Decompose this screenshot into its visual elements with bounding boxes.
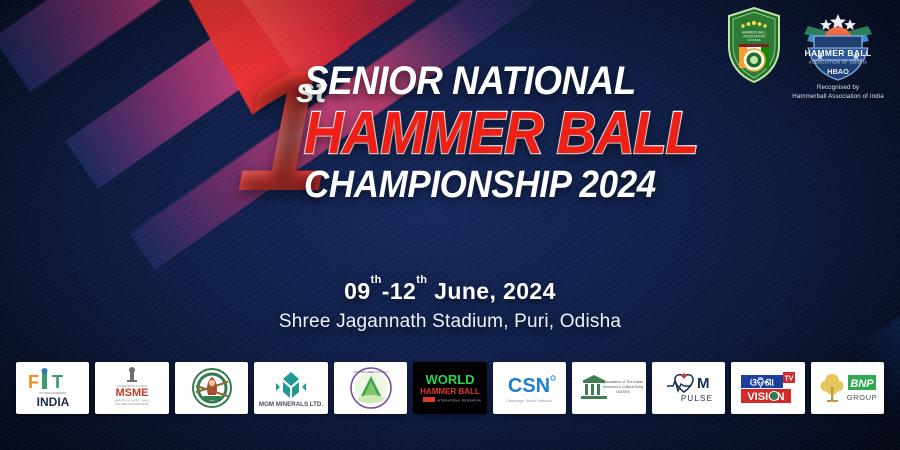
svg-text:OF INDIA: OF INDIA [747, 38, 760, 42]
title-lines: SENIOR NATIONAL HAMMER BALL CHAMPIONSHIP… [304, 62, 706, 204]
sponsor-logo-world-hammer-ball[interactable]: WORLD HAMMER BALL INTERNATIONAL FEDERATI… [413, 362, 486, 414]
date-separator: - [382, 278, 390, 304]
svg-text:PULSE: PULSE [681, 394, 713, 403]
svg-text:ASSOCIATION OF ODISHA: ASSOCIATION OF ODISHA [809, 60, 868, 65]
date-end: 12 [390, 278, 416, 304]
india-association-shield-icon: HAMMER BALL ASSOCIATION OF INDIA [726, 6, 782, 84]
sponsor-logo-mgm-minerals[interactable]: MGM MINERALS LTD. [254, 362, 327, 414]
svg-text:INTERNATIONAL FEDERATION: INTERNATIONAL FEDERATION [437, 399, 481, 403]
svg-text:HAMMER BALL: HAMMER BALL [805, 48, 872, 58]
recognised-by-caption: Recognised by Hammerball Association of … [792, 84, 884, 102]
svg-text:F: F [28, 372, 39, 392]
svg-text:M: M [697, 375, 710, 392]
sponsor-logo-green-circle[interactable]: NATURE GREEN SOCIETY [334, 362, 407, 414]
svg-text:GROUP: GROUP [847, 393, 878, 402]
sponsor-logo-institution[interactable]: Association of The Indian Technical & Cu… [572, 362, 645, 414]
title-line-championship-year: CHAMPIONSHIP 2024 [304, 166, 674, 204]
svg-text:Technical & Cultural Body: Technical & Cultural Body [602, 385, 642, 389]
svg-text:BNP: BNP [851, 378, 875, 390]
svg-text:ODISHA: ODISHA [616, 390, 630, 394]
bnp-group-icon: BNP GROUP [815, 367, 879, 409]
hammerball-association-of-india-emblem: HAMMER BALL ASSOCIATION OF INDIA [726, 6, 782, 84]
world-hammer-ball-icon: WORLD HAMMER BALL INTERNATIONAL FEDERATI… [417, 367, 483, 409]
svg-text:T: T [52, 372, 63, 392]
msme-icon: GOVERNMENT OF INDIA MSME MINISTRY OF MIC… [101, 366, 163, 410]
csn-icon: CSN Campaign Social Network [497, 367, 561, 409]
svg-text:AND MEDIUM ENTERPRISES: AND MEDIUM ENTERPRISES [115, 403, 150, 406]
date-start-suffix: th [371, 274, 382, 286]
svg-text:MSME: MSME [116, 387, 149, 399]
svg-text:INDIA: INDIA [36, 395, 69, 409]
date-end-suffix: th [416, 274, 427, 286]
odisha-emblem-icon [187, 366, 237, 410]
date-month-year: June, 2024 [427, 278, 555, 304]
sponsor-logo-odisha-vision[interactable]: ଓଡ଼ିଶା TV VISION [731, 362, 804, 414]
sponsor-logo-om-pulse[interactable]: M PULSE [652, 362, 725, 414]
fit-india-icon: F T FIT INDIA MOVEMENT INDIA [22, 366, 84, 410]
om-pulse-icon: M PULSE [657, 367, 719, 409]
sponsor-strip: F T FIT INDIA MOVEMENT INDIA GOVERNMENT … [16, 362, 884, 414]
title-line-hammer-ball: HAMMER BALL [304, 103, 674, 163]
sponsor-logo-bnp-group[interactable]: BNP GROUP [811, 362, 884, 414]
svg-text:Campaign Social Network: Campaign Social Network [506, 398, 552, 403]
svg-text:HBAO: HBAO [827, 67, 849, 76]
hammerball-association-of-odisha-badge: HAMMER BALL ASSOCIATION OF ODISHA HBAO R… [790, 6, 886, 102]
title-line-senior-national: SENIOR NATIONAL [304, 62, 674, 101]
hbao-shield-icon: HAMMER BALL ASSOCIATION OF ODISHA HBAO [790, 6, 886, 82]
recognised-by-line2: Hammerball Association of India [792, 93, 884, 102]
svg-text:WORLD: WORLD [425, 372, 474, 387]
mgm-minerals-icon: MGM MINERALS LTD. [259, 366, 323, 410]
sponsor-logo-fit-india[interactable]: F T FIT INDIA MOVEMENT INDIA [16, 362, 89, 414]
event-title-block: 1 st SENIOR NATIONAL HAMMER BALL CHAMPIO… [236, 62, 706, 204]
sponsor-logo-csn[interactable]: CSN Campaign Social Network [493, 362, 566, 414]
svg-text:CSN: CSN [508, 375, 550, 397]
institution-icon: Association of The Indian Technical & Cu… [575, 367, 643, 409]
recognised-by-line1: Recognised by [792, 84, 884, 93]
odisha-vision-tv-icon: ଓଡ଼ିଶା TV VISION [739, 367, 797, 409]
emblem-group: HAMMER BALL ASSOCIATION OF INDIA [726, 6, 886, 102]
green-circle-emblem-icon: NATURE GREEN SOCIETY [345, 366, 397, 410]
svg-text:VISION: VISION [747, 391, 784, 403]
svg-text:Association of The Indian: Association of The Indian [603, 380, 643, 384]
svg-text:NATURE GREEN SOCIETY: NATURE GREEN SOCIETY [353, 370, 388, 374]
svg-text:TV: TV [784, 376, 793, 383]
svg-text:ଓଡ଼ିଶା: ଓଡ଼ିଶା [750, 377, 775, 389]
event-banner: HAMMER BALL ASSOCIATION OF INDIA [0, 0, 900, 450]
event-meta-block: 09th-12th June, 2024 Shree Jagannath Sta… [0, 278, 900, 333]
date-start: 09 [344, 278, 370, 304]
svg-text:HAMMER BALL: HAMMER BALL [420, 387, 480, 396]
event-venue: Shree Jagannath Stadium, Puri, Odisha [0, 311, 900, 333]
sponsor-logo-odisha-emblem[interactable] [175, 362, 248, 414]
sponsor-logo-msme[interactable]: GOVERNMENT OF INDIA MSME MINISTRY OF MIC… [95, 362, 168, 414]
svg-text:MGM MINERALS LTD.: MGM MINERALS LTD. [259, 401, 323, 408]
event-date: 09th-12th June, 2024 [0, 278, 900, 305]
